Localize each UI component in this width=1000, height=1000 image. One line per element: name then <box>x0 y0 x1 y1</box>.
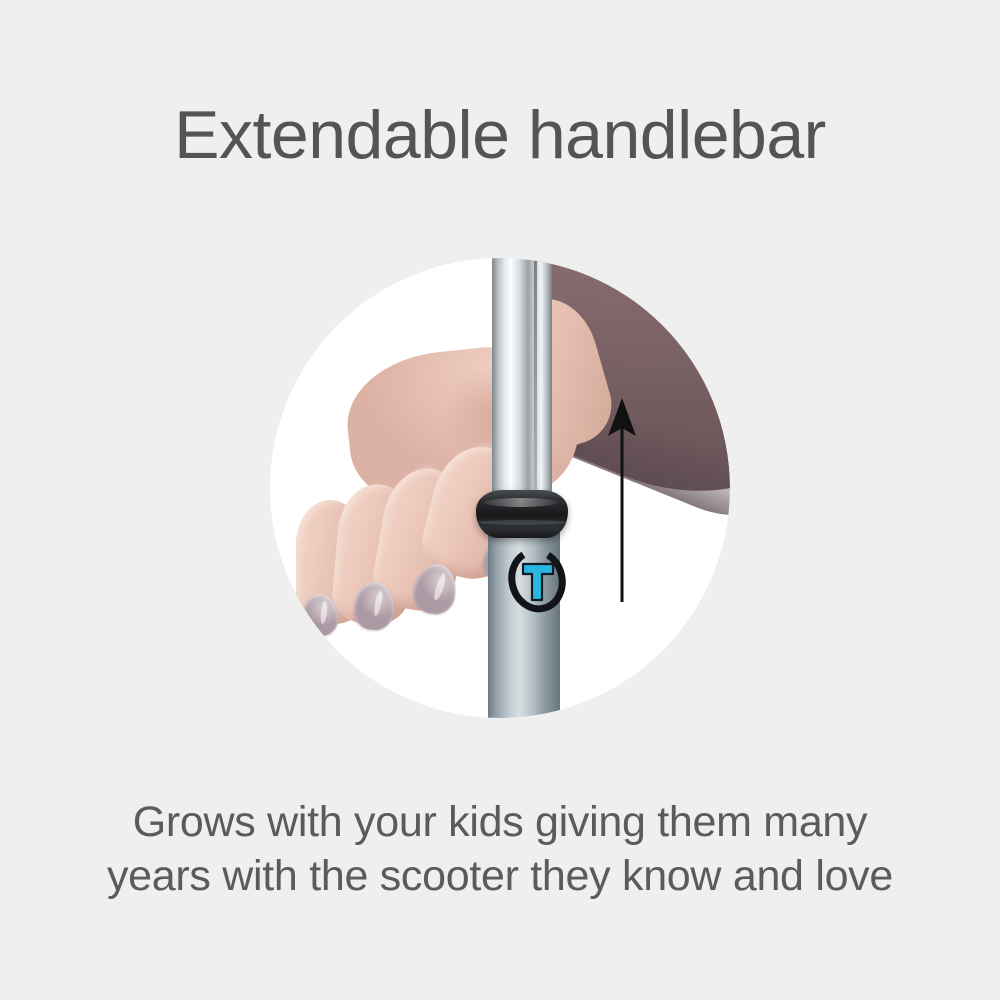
page-title: Extendable handlebar <box>0 96 1000 174</box>
product-photo-content <box>270 258 730 718</box>
product-photo-circle <box>270 258 730 718</box>
product-feature-page: Extendable handlebar <box>0 0 1000 1000</box>
hand-graphic <box>288 350 588 600</box>
feature-caption: Grows with your kids giving them many ye… <box>0 795 1000 903</box>
caption-line-1: Grows with your kids giving them many <box>0 795 1000 849</box>
caption-line-2: years with the scooter they know and lov… <box>0 849 1000 903</box>
